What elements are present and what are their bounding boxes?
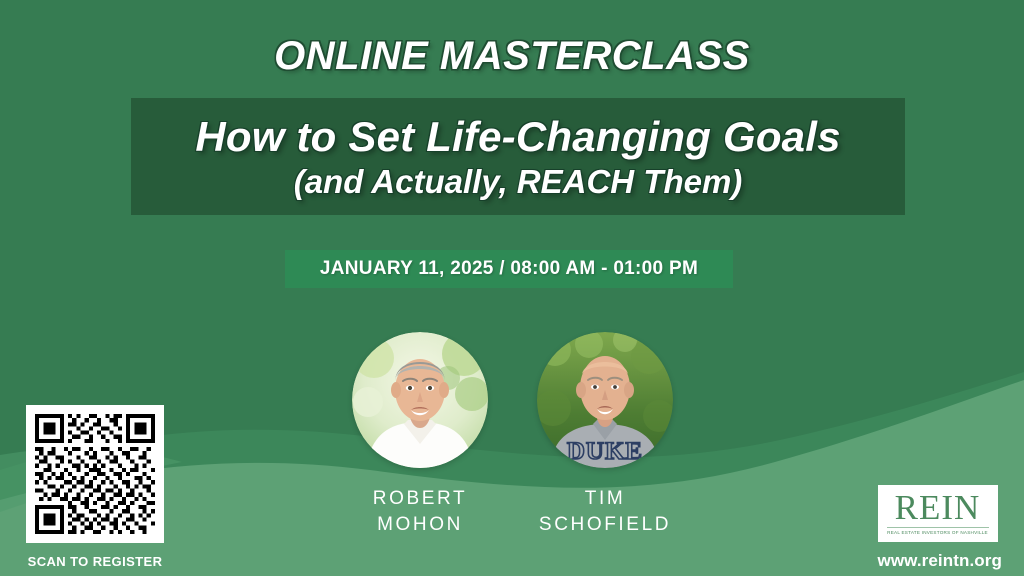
logo-tagline: REAL ESTATE INVESTORS OF NASHVILLE [886,530,990,537]
portrait-illustration-2: DUKE [537,332,673,468]
logo-divider [887,527,989,528]
speaker-last-name: SCHOFIELD [525,512,685,538]
logo-wordmark: REIN [886,491,990,524]
speaker-name-tim-schofield: TIM SCHOFIELD [525,486,685,538]
headline-secondary: (and Actually, REACH Them) [294,164,743,201]
qr-code[interactable] [26,405,164,543]
speaker-card-tim-schofield: DUKE TIM SCHOFIELD [525,332,685,538]
speaker-photo-robert-mohon [352,332,488,468]
qr-caption: SCAN TO REGISTER [26,554,164,569]
speaker-photo-tim-schofield: DUKE [537,332,673,468]
speaker-first-name: TIM [525,486,685,512]
portrait-illustration-1 [352,332,488,468]
page-eyebrow-title: ONLINE MASTERCLASS [0,34,1024,79]
speaker-name-robert-mohon: ROBERT MOHON [340,486,500,538]
qr-code-icon[interactable] [35,414,155,534]
headline-band: How to Set Life-Changing Goals (and Actu… [131,98,905,215]
speakers-group: ROBERT MOHON [320,332,720,547]
svg-text:DUKE: DUKE [567,438,643,465]
masterclass-poster: ONLINE MASTERCLASS How to Set Life-Chang… [0,0,1024,576]
qr-registration-block[interactable]: SCAN TO REGISTER [26,405,164,569]
logo-panel: REIN REAL ESTATE INVESTORS OF NASHVILLE [878,485,998,542]
speaker-first-name: ROBERT [340,486,500,512]
speaker-card-robert-mohon: ROBERT MOHON [340,332,500,538]
headline-primary: How to Set Life-Changing Goals [195,113,840,160]
brand-logo-block[interactable]: REIN REAL ESTATE INVESTORS OF NASHVILLE … [878,485,1003,571]
date-time-banner: JANUARY 11, 2025 / 08:00 AM - 01:00 PM [285,250,733,288]
speaker-last-name: MOHON [340,512,500,538]
website-url[interactable]: www.reintn.org [878,551,1003,571]
date-time-text: JANUARY 11, 2025 / 08:00 AM - 01:00 PM [320,258,698,280]
